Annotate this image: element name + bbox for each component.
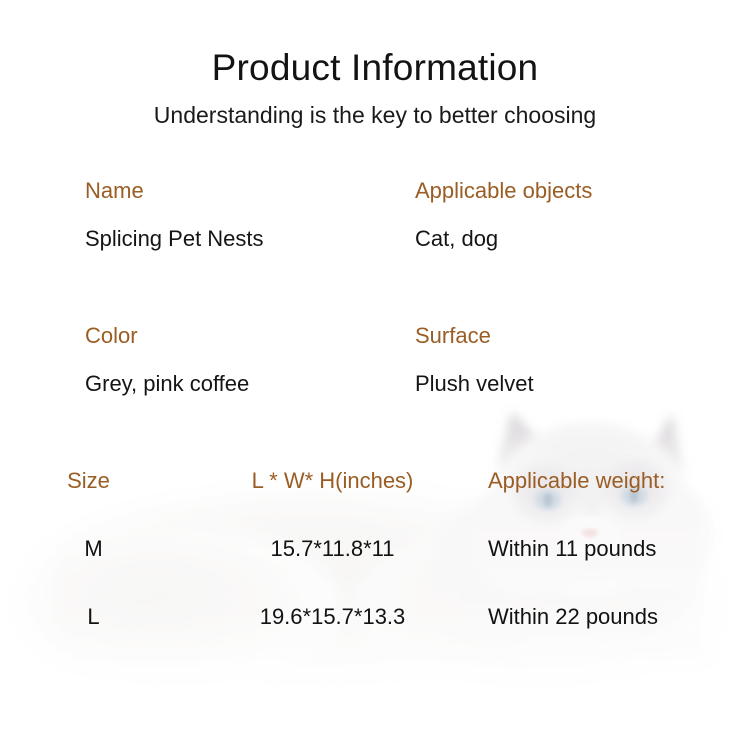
- page-subtitle: Understanding is the key to better choos…: [0, 90, 750, 130]
- spec-applicable-objects: Applicable objects Cat, dog: [415, 178, 735, 253]
- cell-dimensions: 19.6*15.7*13.3: [195, 604, 470, 630]
- spec-row: Color Grey, pink coffee Surface Plush ve…: [0, 323, 750, 468]
- cell-size: L: [0, 604, 195, 630]
- cell-size: M: [0, 536, 195, 562]
- column-header-size: Size: [0, 468, 195, 494]
- size-table: Size L * W* H(inches) Applicable weight:…: [0, 468, 750, 672]
- spec-value-surface: Plush velvet: [415, 371, 735, 397]
- column-header-weight: Applicable weight:: [470, 468, 750, 494]
- cell-weight: Within 11 pounds: [470, 536, 750, 562]
- page-title: Product Information: [0, 0, 750, 90]
- table-row: M 15.7*11.8*11 Within 11 pounds: [0, 536, 750, 604]
- spec-value-color: Grey, pink coffee: [85, 371, 405, 397]
- product-information-card: Product Information Understanding is the…: [0, 0, 750, 750]
- spec-label-color: Color: [85, 323, 405, 349]
- spec-value-applicable-objects: Cat, dog: [415, 226, 735, 252]
- spec-name: Name Splicing Pet Nests: [85, 178, 405, 253]
- spec-label-name: Name: [85, 178, 405, 204]
- cell-dimensions: 15.7*11.8*11: [195, 536, 470, 562]
- spec-surface: Surface Plush velvet: [415, 323, 735, 398]
- header: Product Information Understanding is the…: [0, 0, 750, 129]
- column-header-dimensions: L * W* H(inches): [195, 468, 470, 494]
- spec-label-applicable-objects: Applicable objects: [415, 178, 735, 204]
- size-table-header-row: Size L * W* H(inches) Applicable weight:: [0, 468, 750, 536]
- specification-grid: Name Splicing Pet Nests Applicable objec…: [0, 178, 750, 468]
- cell-weight: Within 22 pounds: [470, 604, 750, 630]
- spec-row: Name Splicing Pet Nests Applicable objec…: [0, 178, 750, 323]
- table-row: L 19.6*15.7*13.3 Within 22 pounds: [0, 604, 750, 672]
- spec-color: Color Grey, pink coffee: [85, 323, 405, 398]
- spec-value-name: Splicing Pet Nests: [85, 226, 405, 252]
- spec-label-surface: Surface: [415, 323, 735, 349]
